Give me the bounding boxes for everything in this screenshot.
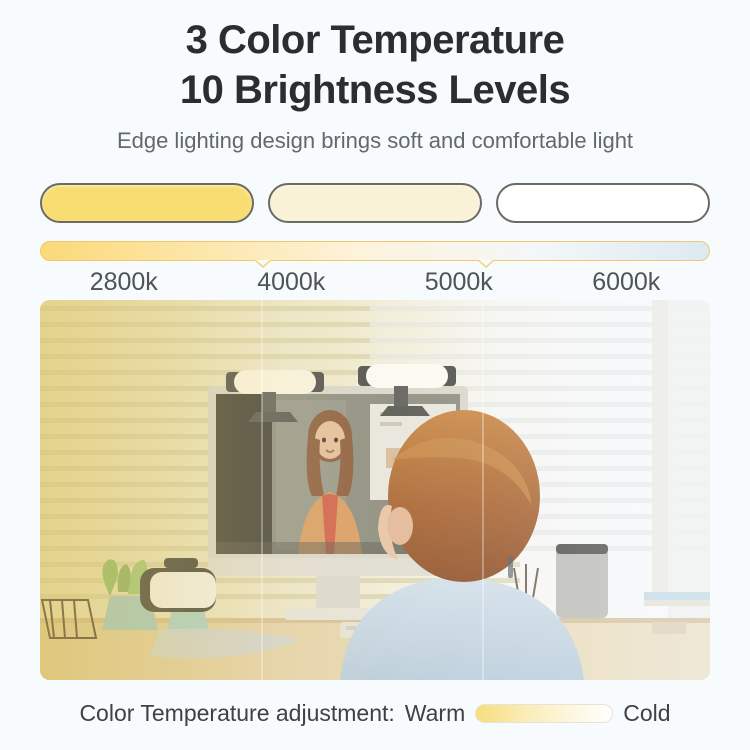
warm-cold-gradient-bar[interactable] [475, 704, 613, 723]
kelvin-labels: 2800k 4000k 5000k 6000k [40, 268, 710, 297]
page-title: 3 Color Temperature 10 Brightness Levels [0, 16, 750, 115]
tint-seam-1 [261, 300, 263, 680]
kelvin-notch-1 [254, 260, 272, 268]
headline-line-2: 10 Brightness Levels [0, 66, 750, 116]
kelvin-label-5000k: 5000k [375, 268, 543, 297]
neutral-swatch[interactable] [268, 183, 482, 223]
scene-illustration [40, 300, 710, 680]
warm-label: Warm [405, 700, 465, 727]
kelvin-label-6000k: 6000k [543, 268, 711, 297]
cool-swatch[interactable] [496, 183, 710, 223]
product-scene-photo [40, 300, 710, 680]
tint-seam-2 [482, 300, 484, 680]
cold-label: Cold [623, 700, 670, 727]
kelvin-label-2800k: 2800k [40, 268, 208, 297]
subtitle: Edge lighting design brings soft and com… [0, 128, 750, 154]
headline-line-1: 3 Color Temperature [0, 16, 750, 66]
warm-swatch[interactable] [40, 183, 254, 223]
kelvin-gradient-fill [40, 241, 710, 261]
kelvin-label-4000k: 4000k [208, 268, 376, 297]
color-temperature-adjustment-row: Color Temperature adjustment: Warm Cold [0, 700, 750, 727]
product-feature-page: 3 Color Temperature 10 Brightness Levels… [0, 0, 750, 750]
kelvin-gradient-bar[interactable] [40, 241, 710, 261]
color-temperature-swatches [40, 183, 710, 223]
adjustment-label: Color Temperature adjustment: [79, 700, 394, 727]
kelvin-notch-2 [477, 260, 495, 268]
